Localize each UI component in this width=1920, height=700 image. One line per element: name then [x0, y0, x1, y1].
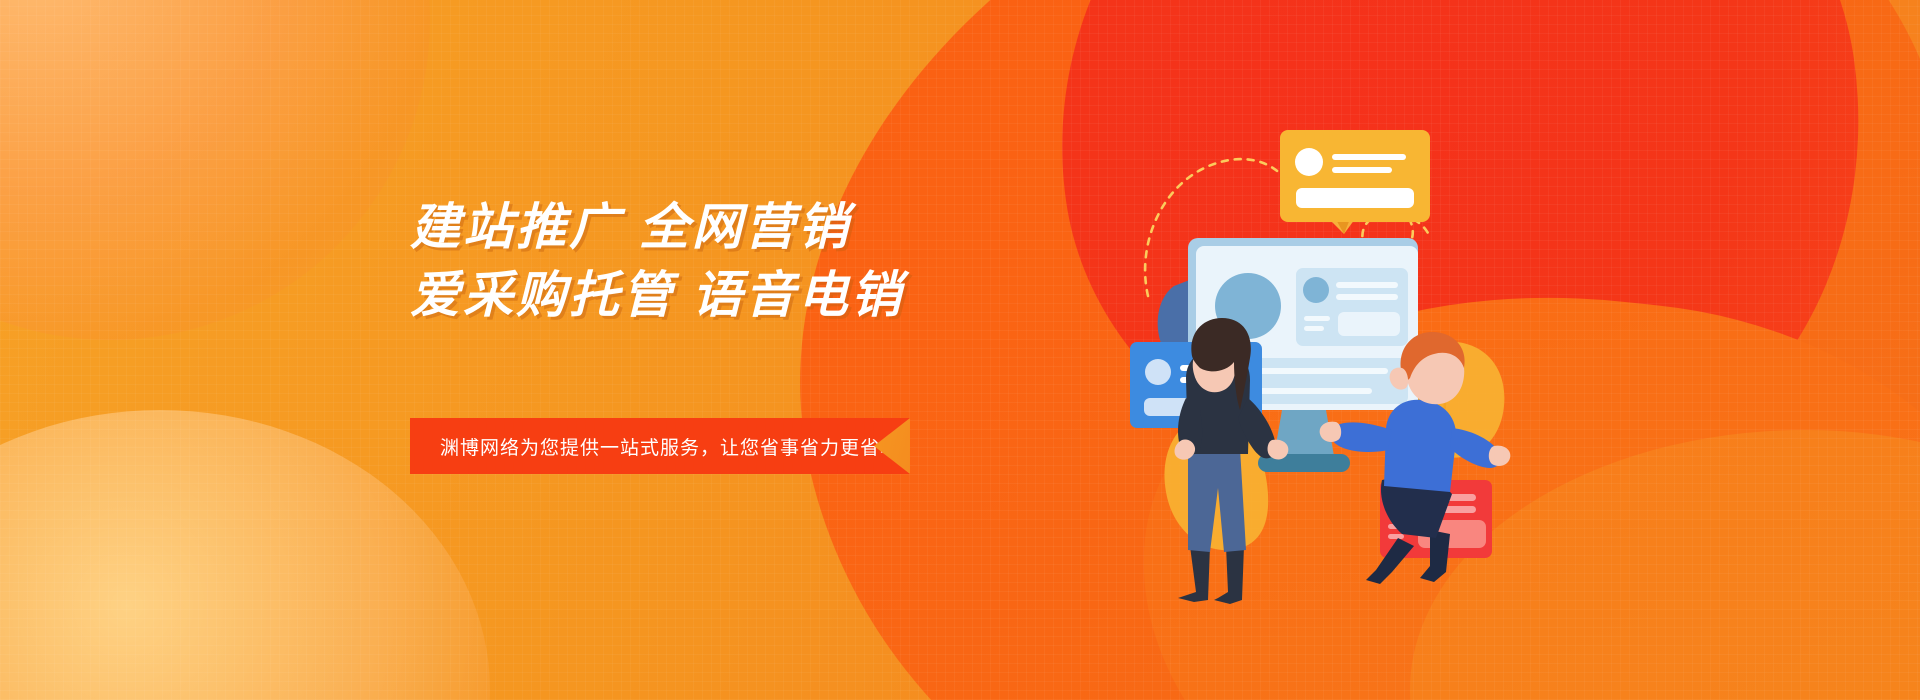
tagline-ribbon: 渊博网络为您提供一站式服务，让您省事省力更省心	[410, 418, 910, 474]
headline-block: 建站推广 全网营销 爱采购托管 语音电销	[410, 196, 970, 326]
grid-texture-overlay	[0, 0, 1920, 700]
headline-line-2: 爱采购托管 语音电销	[410, 264, 970, 326]
headline-line-1: 建站推广 全网营销	[410, 196, 970, 258]
team-collaboration-illustration	[1130, 110, 1530, 610]
tagline-text: 渊博网络为您提供一站式服务，让您省事省力更省心	[440, 418, 900, 474]
yellow-profile-card	[1280, 130, 1430, 222]
promo-banner: 建站推广 全网营销 爱采购托管 语音电销 渊博网络为您提供一站式服务，让您省事省…	[0, 0, 1920, 700]
top-left-glow-circle	[0, 0, 430, 340]
